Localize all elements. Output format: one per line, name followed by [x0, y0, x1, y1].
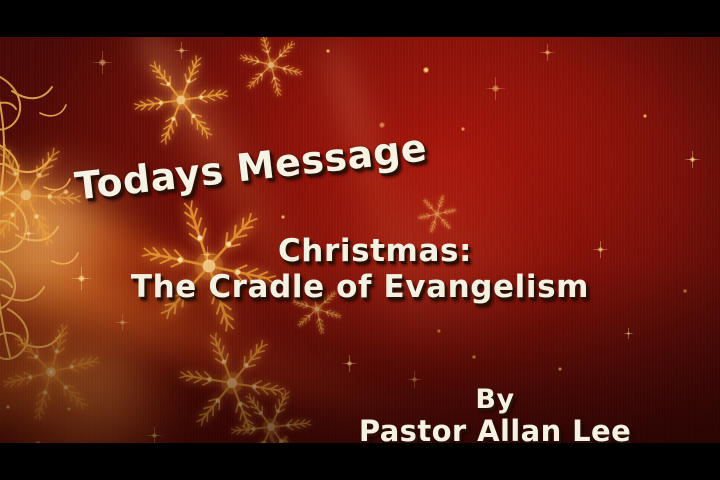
slide-subtitle: Christmas: The Cradle of Evangelism: [0, 233, 720, 305]
speaker-name: Pastor Allan Lee: [330, 414, 660, 443]
letterbox-bar-top: [0, 0, 720, 37]
slide-heading: Todays Message: [73, 125, 429, 208]
letterbox-bar-bottom: [0, 443, 720, 480]
slide-byline: By Pastor Allan Lee: [330, 385, 660, 443]
slide-text-layer: Todays Message Christmas: The Cradle of …: [0, 37, 720, 443]
slide-subtitle-line-2: The Cradle of Evangelism: [0, 269, 720, 305]
video-frame: Todays Message Christmas: The Cradle of …: [0, 0, 720, 480]
slide-subtitle-line-1: Christmas:: [0, 233, 720, 269]
slide-image: Todays Message Christmas: The Cradle of …: [0, 37, 720, 443]
byline-prefix: By: [330, 385, 660, 414]
